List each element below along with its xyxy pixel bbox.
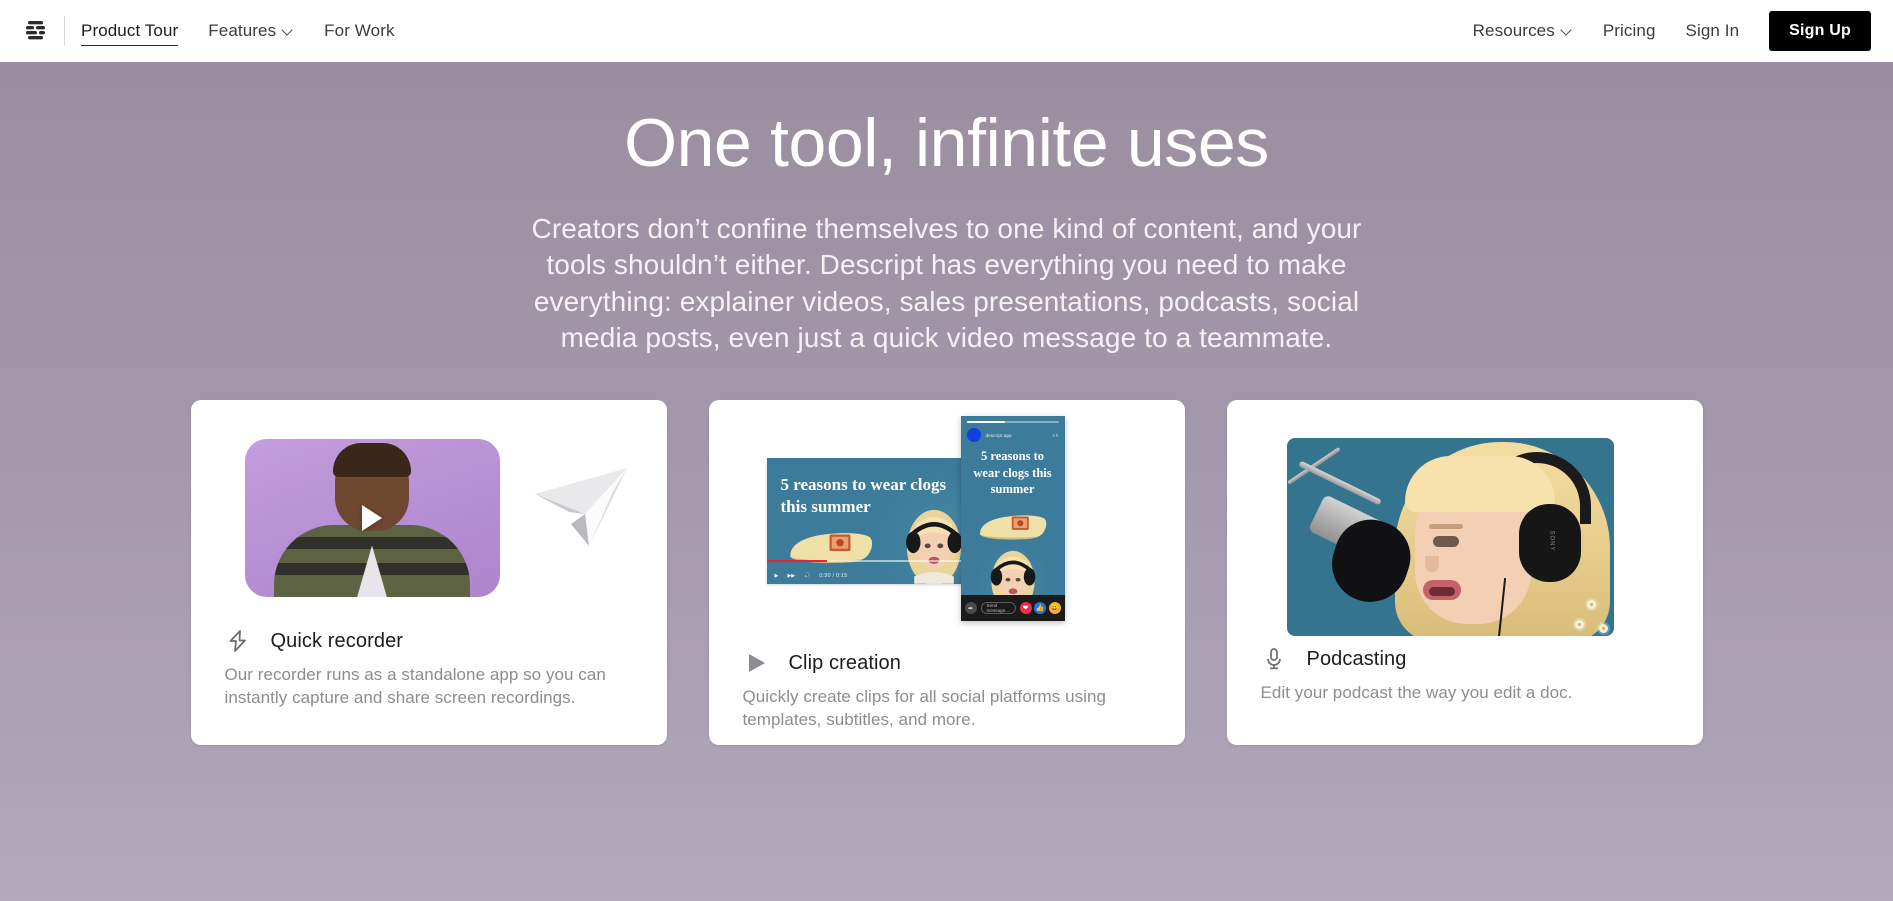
play-icon[interactable]: ▶ xyxy=(775,573,779,579)
story-username: descript.app xyxy=(986,433,1012,438)
recorder-video-thumbnail[interactable] xyxy=(245,439,500,597)
avatar xyxy=(967,428,981,442)
story-reply-bar: ➦ Send message... ❤ 👍 😀 xyxy=(961,595,1065,621)
podcasting-media: SONY xyxy=(1227,400,1703,646)
mic-boom-arm xyxy=(1298,461,1382,506)
next-icon[interactable]: ▶▶ xyxy=(787,573,795,579)
microphone-icon xyxy=(1261,646,1287,672)
feature-card-clip-creation[interactable]: 5 reasons to wear clogs this summer xyxy=(709,400,1185,745)
feature-card-description: Our recorder runs as a standalone app so… xyxy=(225,664,625,708)
landscape-clip-preview[interactable]: 5 reasons to wear clogs this summer xyxy=(767,458,992,584)
hero-section: One tool, infinite uses Creators don’t c… xyxy=(0,62,1893,901)
clip-creation-footer: Clip creation Quickly create clips for a… xyxy=(709,650,1185,730)
person-hair xyxy=(333,443,411,477)
share-icon[interactable]: ➦ xyxy=(965,602,977,614)
feature-card-description: Edit your podcast the way you edit a doc… xyxy=(1261,682,1661,704)
person-mouth xyxy=(1423,580,1461,600)
story-clip-preview[interactable]: descript.app 4 h 5 reasons to wear clogs… xyxy=(961,416,1065,621)
play-icon[interactable] xyxy=(362,505,382,531)
story-progress-bar xyxy=(967,421,1059,423)
nav-item-pricing-label: Pricing xyxy=(1603,21,1656,41)
podcasting-heading: Podcasting xyxy=(1261,646,1669,672)
player-progress-bar[interactable] xyxy=(767,560,992,562)
player-progress-fill xyxy=(767,560,828,562)
heart-icon[interactable]: ❤ xyxy=(1020,602,1032,614)
laughing-icon[interactable]: 😀 xyxy=(1049,602,1061,614)
sign-up-button[interactable]: Sign Up xyxy=(1769,11,1871,51)
nav-left-group: Product Tour Features For Work xyxy=(14,9,395,53)
feature-card-podcasting[interactable]: SONY xyxy=(1227,400,1703,745)
feature-card-quick-recorder[interactable]: Quick recorder Our recorder runs as a st… xyxy=(191,400,667,745)
primary-nav-links: Product Tour Features For Work xyxy=(81,17,395,46)
volume-icon[interactable]: 🔊 xyxy=(804,573,810,579)
hero-subtitle: Creators don’t confine themselves to one… xyxy=(502,211,1392,357)
headphones-brand-label: SONY xyxy=(1548,531,1554,552)
nav-divider xyxy=(64,16,65,46)
nav-right-group: Resources Pricing Sign In Sign Up xyxy=(1473,11,1871,51)
top-navigation-bar: Product Tour Features For Work Resources… xyxy=(0,0,1893,62)
descript-logo[interactable] xyxy=(14,9,58,53)
nav-item-sign-in[interactable]: Sign In xyxy=(1686,17,1740,45)
person-eye xyxy=(1433,536,1459,547)
feature-card-title: Quick recorder xyxy=(271,630,404,653)
flower-detail xyxy=(1599,624,1608,633)
nav-item-pricing[interactable]: Pricing xyxy=(1603,17,1656,45)
flower-detail xyxy=(1587,600,1596,609)
nav-item-resources[interactable]: Resources xyxy=(1473,17,1573,45)
feature-card-list: Quick recorder Our recorder runs as a st… xyxy=(191,400,1703,745)
flower-detail xyxy=(1575,620,1584,629)
thumbs-up-icon[interactable]: 👍 xyxy=(1034,602,1046,614)
chevron-down-icon xyxy=(283,25,294,36)
story-header: descript.app 4 h xyxy=(967,428,1059,442)
quick-recorder-heading: Quick recorder xyxy=(225,628,633,654)
clip-creation-heading: Clip creation xyxy=(743,650,1151,676)
story-caption: 5 reasons to wear clogs this summer xyxy=(969,448,1057,498)
paper-plane-icon xyxy=(533,462,629,548)
play-triangle-icon xyxy=(743,650,769,676)
feature-card-title: Podcasting xyxy=(1307,648,1407,671)
nav-item-features-label: Features xyxy=(208,21,276,41)
quick-recorder-footer: Quick recorder Our recorder runs as a st… xyxy=(191,628,667,708)
story-reply-input[interactable]: Send message... xyxy=(981,602,1016,614)
nav-item-for-work-label: For Work xyxy=(324,21,394,41)
nav-item-sign-in-label: Sign In xyxy=(1686,21,1740,41)
clog-image xyxy=(976,508,1050,542)
player-controls: ▶ ▶▶ 🔊 0:30 / 0:15 xyxy=(775,573,848,579)
podcasting-footer: Podcasting Edit your podcast the way you… xyxy=(1227,646,1703,704)
story-reactions: ❤ 👍 😀 xyxy=(1020,602,1061,614)
player-timestamp: 0:30 / 0:15 xyxy=(819,573,847,579)
story-timestamp: 4 h xyxy=(1052,433,1058,438)
person-eyebrow xyxy=(1429,524,1463,529)
feature-card-title: Clip creation xyxy=(789,652,901,675)
podcast-photo-thumbnail[interactable]: SONY xyxy=(1287,438,1614,636)
quick-recorder-media xyxy=(191,400,667,628)
descript-logo-icon xyxy=(23,18,49,44)
nav-item-product-tour-label: Product Tour xyxy=(81,21,178,41)
feature-card-description: Quickly create clips for all social plat… xyxy=(743,686,1143,730)
person-nose xyxy=(1425,556,1439,572)
clip-creation-media: 5 reasons to wear clogs this summer xyxy=(709,400,1185,650)
nav-item-for-work[interactable]: For Work xyxy=(324,17,394,45)
person-bangs xyxy=(1405,456,1555,512)
chevron-down-icon xyxy=(1562,25,1573,36)
nav-item-resources-label: Resources xyxy=(1473,21,1555,41)
nav-item-features[interactable]: Features xyxy=(208,17,294,45)
nav-item-product-tour[interactable]: Product Tour xyxy=(81,17,178,46)
person-body xyxy=(274,525,470,597)
lightning-bolt-icon xyxy=(225,628,251,654)
page-title: One tool, infinite uses xyxy=(624,104,1269,183)
person-image xyxy=(898,506,970,584)
